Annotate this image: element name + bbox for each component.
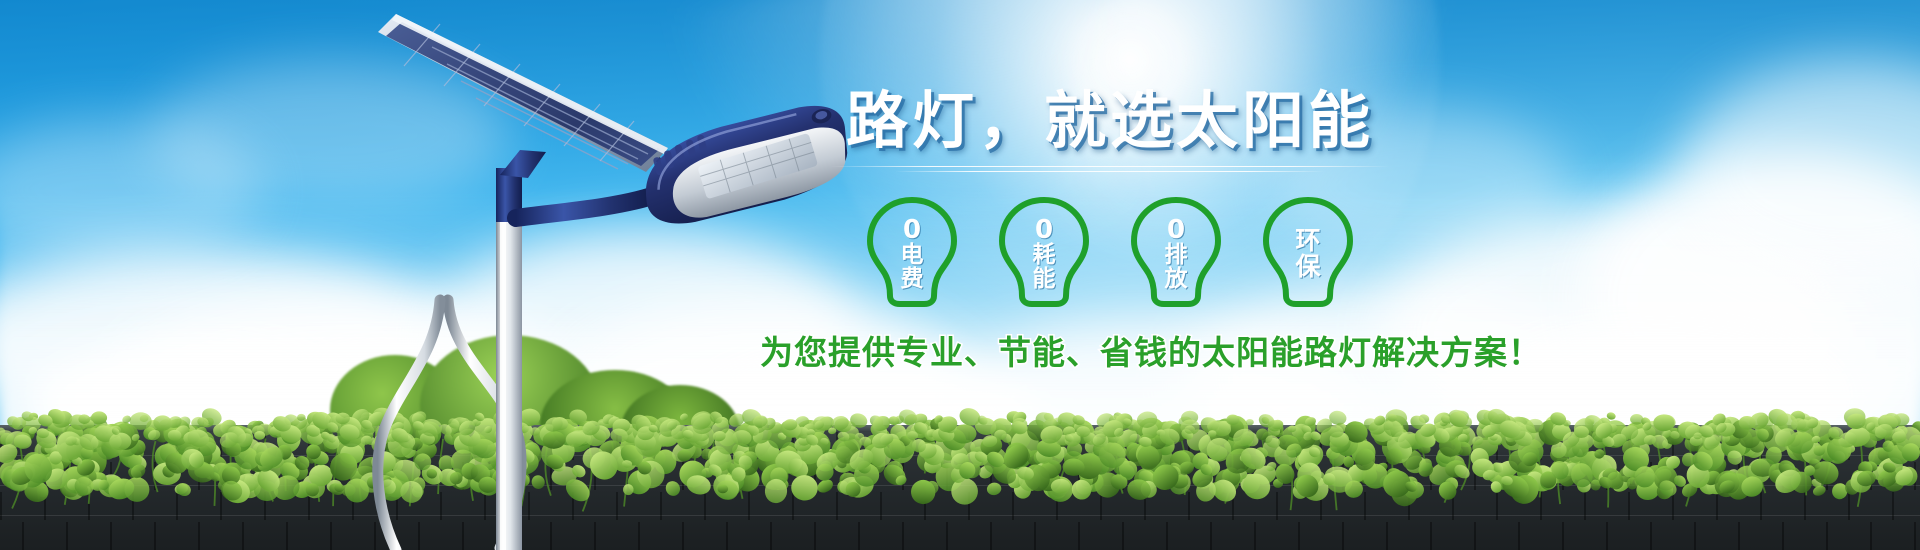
feature-badge[interactable]: 0 电 费 <box>860 194 964 310</box>
feature-badge[interactable]: 环 保 <box>1256 194 1360 310</box>
badge-zero: 0 <box>903 217 921 243</box>
badge-zero: 0 <box>1035 217 1053 243</box>
badge-zero: 0 <box>1167 217 1185 243</box>
badge-label-bottom: 能 <box>1033 267 1056 291</box>
solar-street-light-banner: 路灯，就选太阳能 0 电 费 <box>0 0 1920 550</box>
feature-badge[interactable]: 0 排 放 <box>1124 194 1228 310</box>
page-title: 路灯，就选太阳能 <box>760 90 1460 152</box>
badge-label-top: 耗 <box>1033 243 1056 267</box>
lamp-arm <box>516 196 652 218</box>
badge-content: 环 保 <box>1256 194 1360 310</box>
badge-label-bottom: 放 <box>1165 267 1188 291</box>
title-divider-secondary <box>895 171 1325 172</box>
feature-badge-list: 0 电 费 0 耗 能 <box>760 194 1460 310</box>
badge-label: 环 保 <box>1295 228 1320 281</box>
badge-label-top: 环 <box>1295 228 1320 254</box>
badge-content: 0 耗 能 <box>992 194 1096 310</box>
title-divider <box>830 166 1390 167</box>
badge-label-bottom: 费 <box>901 267 924 291</box>
badge-label: 电 费 <box>901 243 924 291</box>
badge-content: 0 排 放 <box>1124 194 1228 310</box>
badge-label-top: 电 <box>901 243 924 267</box>
badge-label-top: 排 <box>1165 243 1188 267</box>
banner-copy: 路灯，就选太阳能 0 电 费 <box>760 90 1460 374</box>
badge-label-bottom: 保 <box>1295 254 1320 280</box>
solar-panel-icon <box>378 14 672 178</box>
badge-content: 0 电 费 <box>860 194 964 310</box>
feature-badge[interactable]: 0 耗 能 <box>992 194 1096 310</box>
badge-label: 耗 能 <box>1033 243 1056 291</box>
badge-label: 排 放 <box>1165 243 1188 291</box>
banner-subtitle: 为您提供专业、节能、省钱的太阳能路灯解决方案！ <box>760 326 1460 374</box>
